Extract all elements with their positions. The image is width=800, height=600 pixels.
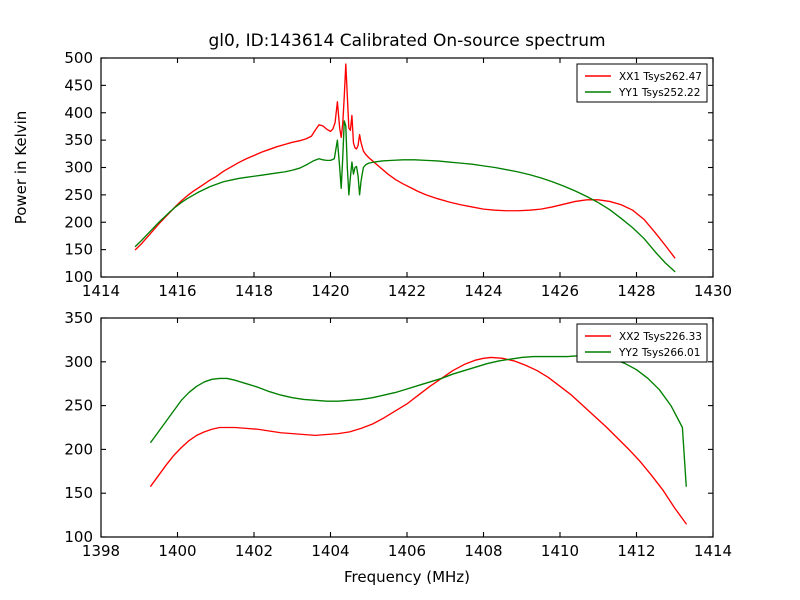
y-tick-label: 350	[64, 309, 93, 327]
plot-panel-top: 1414141614181420142214241426142814301001…	[12, 31, 732, 300]
x-tick-label: 1404	[311, 542, 349, 560]
y-tick-label: 100	[64, 528, 93, 546]
figure-title: gl0, ID:143614 Calibrated On-source spec…	[208, 31, 605, 51]
y-tick-label: 250	[64, 186, 93, 204]
legend-label-yy1: YY1 Tsys252.22	[618, 87, 700, 99]
y-tick-label: 500	[64, 49, 93, 67]
x-tick-label: 1426	[541, 282, 579, 300]
x-tick-label: 1424	[464, 282, 502, 300]
legend-label-yy2: YY2 Tsys266.01	[618, 347, 700, 359]
legend-label-xx1: XX1 Tsys262.47	[619, 71, 702, 83]
x-tick-label: 1416	[158, 282, 196, 300]
x-tick-label: 1428	[617, 282, 655, 300]
x-tick-label: 1402	[235, 542, 273, 560]
x-tick-label: 1410	[541, 542, 579, 560]
y-tick-label: 150	[64, 484, 93, 502]
x-tick-label: 1418	[235, 282, 273, 300]
y-tick-label: 300	[64, 353, 93, 371]
matplotlib-figure: 1414141614181420142214241426142814301001…	[0, 0, 800, 600]
x-tick-label: 1400	[158, 542, 196, 560]
y-tick-label: 250	[64, 397, 93, 415]
x-tick-label: 1420	[311, 282, 349, 300]
y-tick-label: 150	[64, 241, 93, 259]
y-tick-label: 200	[64, 440, 93, 458]
y-tick-label: 300	[64, 159, 93, 177]
y-tick-label: 200	[64, 213, 93, 231]
series-line-yy2	[151, 356, 687, 487]
y-tick-label: 100	[64, 268, 93, 286]
series-line-yy1	[135, 121, 674, 272]
legend-label-xx2: XX2 Tsys226.33	[619, 331, 702, 343]
legend: XX2 Tsys226.33YY2 Tsys266.01	[577, 324, 707, 362]
x-tick-label: 1422	[388, 282, 426, 300]
legend: XX1 Tsys262.47YY1 Tsys252.22	[577, 64, 707, 102]
x-tick-label: 1430	[694, 282, 732, 300]
spectrum-plot-canvas: 1414141614181420142214241426142814301001…	[0, 0, 800, 600]
series-line-xx2	[151, 357, 687, 523]
x-tick-label: 1412	[617, 542, 655, 560]
y-tick-label: 450	[64, 76, 93, 94]
plot-panel-bottom: 1398140014021404140614081410141214141001…	[64, 309, 732, 586]
y-tick-label: 400	[64, 104, 93, 122]
y-tick-label: 350	[64, 131, 93, 149]
x-tick-label: 1406	[388, 542, 426, 560]
x-axis-title: Frequency (MHz)	[344, 568, 470, 586]
x-tick-label: 1414	[694, 542, 732, 560]
y-axis-title: Power in Kelvin	[12, 111, 30, 225]
x-tick-label: 1408	[464, 542, 502, 560]
